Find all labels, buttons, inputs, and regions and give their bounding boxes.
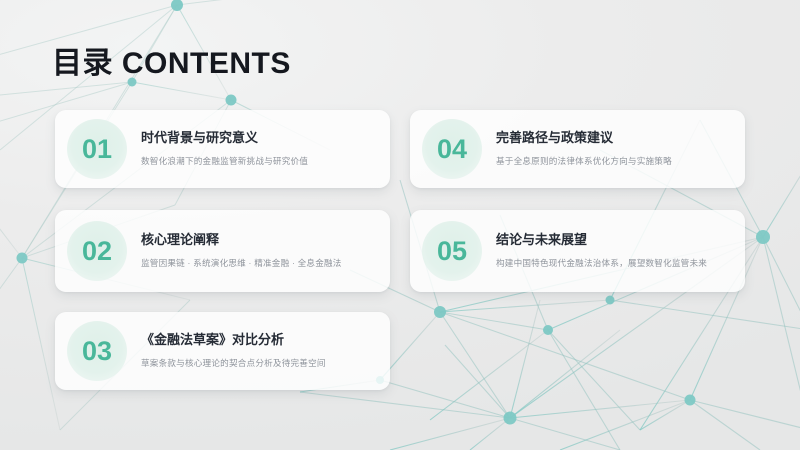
number-badge-01: 01	[55, 110, 139, 188]
item-number: 02	[82, 238, 112, 265]
page-title: 目录 CONTENTS	[52, 38, 291, 82]
number-badge-05: 05	[410, 210, 494, 292]
number-badge-02: 02	[55, 210, 139, 292]
number-badge-03: 03	[55, 312, 139, 390]
item-text-block: 核心理论阐释 监管因果链 · 系统演化思维 · 精准金融 · 全息金融法	[139, 232, 390, 271]
item-title: 核心理论阐释	[141, 232, 374, 248]
item-number: 03	[82, 338, 112, 365]
item-subtitle: 草案条款与核心理论的契合点分析及待完善空间	[141, 357, 374, 370]
item-title: 《金融法草案》对比分析	[141, 332, 374, 348]
item-number: 04	[437, 136, 467, 163]
contents-item-04[interactable]: 04 完善路径与政策建议 基于全息原则的法律体系优化方向与实施策略	[410, 110, 745, 188]
item-text-block: 结论与未来展望 构建中国特色现代金融法治体系，展望数智化监管未来	[494, 232, 745, 271]
item-number: 05	[437, 238, 467, 265]
contents-item-02[interactable]: 02 核心理论阐释 监管因果链 · 系统演化思维 · 精准金融 · 全息金融法	[55, 210, 390, 292]
number-badge-04: 04	[410, 110, 494, 188]
item-subtitle: 构建中国特色现代金融法治体系，展望数智化监管未来	[496, 257, 729, 270]
slide-canvas: 目录 CONTENTS 01 时代背景与研究意义 数智化浪潮下的金融监管新挑战与…	[0, 0, 800, 450]
item-subtitle: 基于全息原则的法律体系优化方向与实施策略	[496, 155, 729, 168]
item-text-block: 完善路径与政策建议 基于全息原则的法律体系优化方向与实施策略	[494, 130, 745, 169]
item-text-block: 《金融法草案》对比分析 草案条款与核心理论的契合点分析及待完善空间	[139, 332, 390, 371]
contents-item-03[interactable]: 03 《金融法草案》对比分析 草案条款与核心理论的契合点分析及待完善空间	[55, 312, 390, 390]
item-title: 时代背景与研究意义	[141, 130, 374, 146]
contents-item-01[interactable]: 01 时代背景与研究意义 数智化浪潮下的金融监管新挑战与研究价值	[55, 110, 390, 188]
item-number: 01	[82, 136, 112, 163]
contents-item-05[interactable]: 05 结论与未来展望 构建中国特色现代金融法治体系，展望数智化监管未来	[410, 210, 745, 292]
item-text-block: 时代背景与研究意义 数智化浪潮下的金融监管新挑战与研究价值	[139, 130, 390, 169]
item-subtitle: 数智化浪潮下的金融监管新挑战与研究价值	[141, 155, 374, 168]
item-title: 完善路径与政策建议	[496, 130, 729, 146]
item-title: 结论与未来展望	[496, 232, 729, 248]
item-subtitle: 监管因果链 · 系统演化思维 · 精准金融 · 全息金融法	[141, 257, 374, 270]
